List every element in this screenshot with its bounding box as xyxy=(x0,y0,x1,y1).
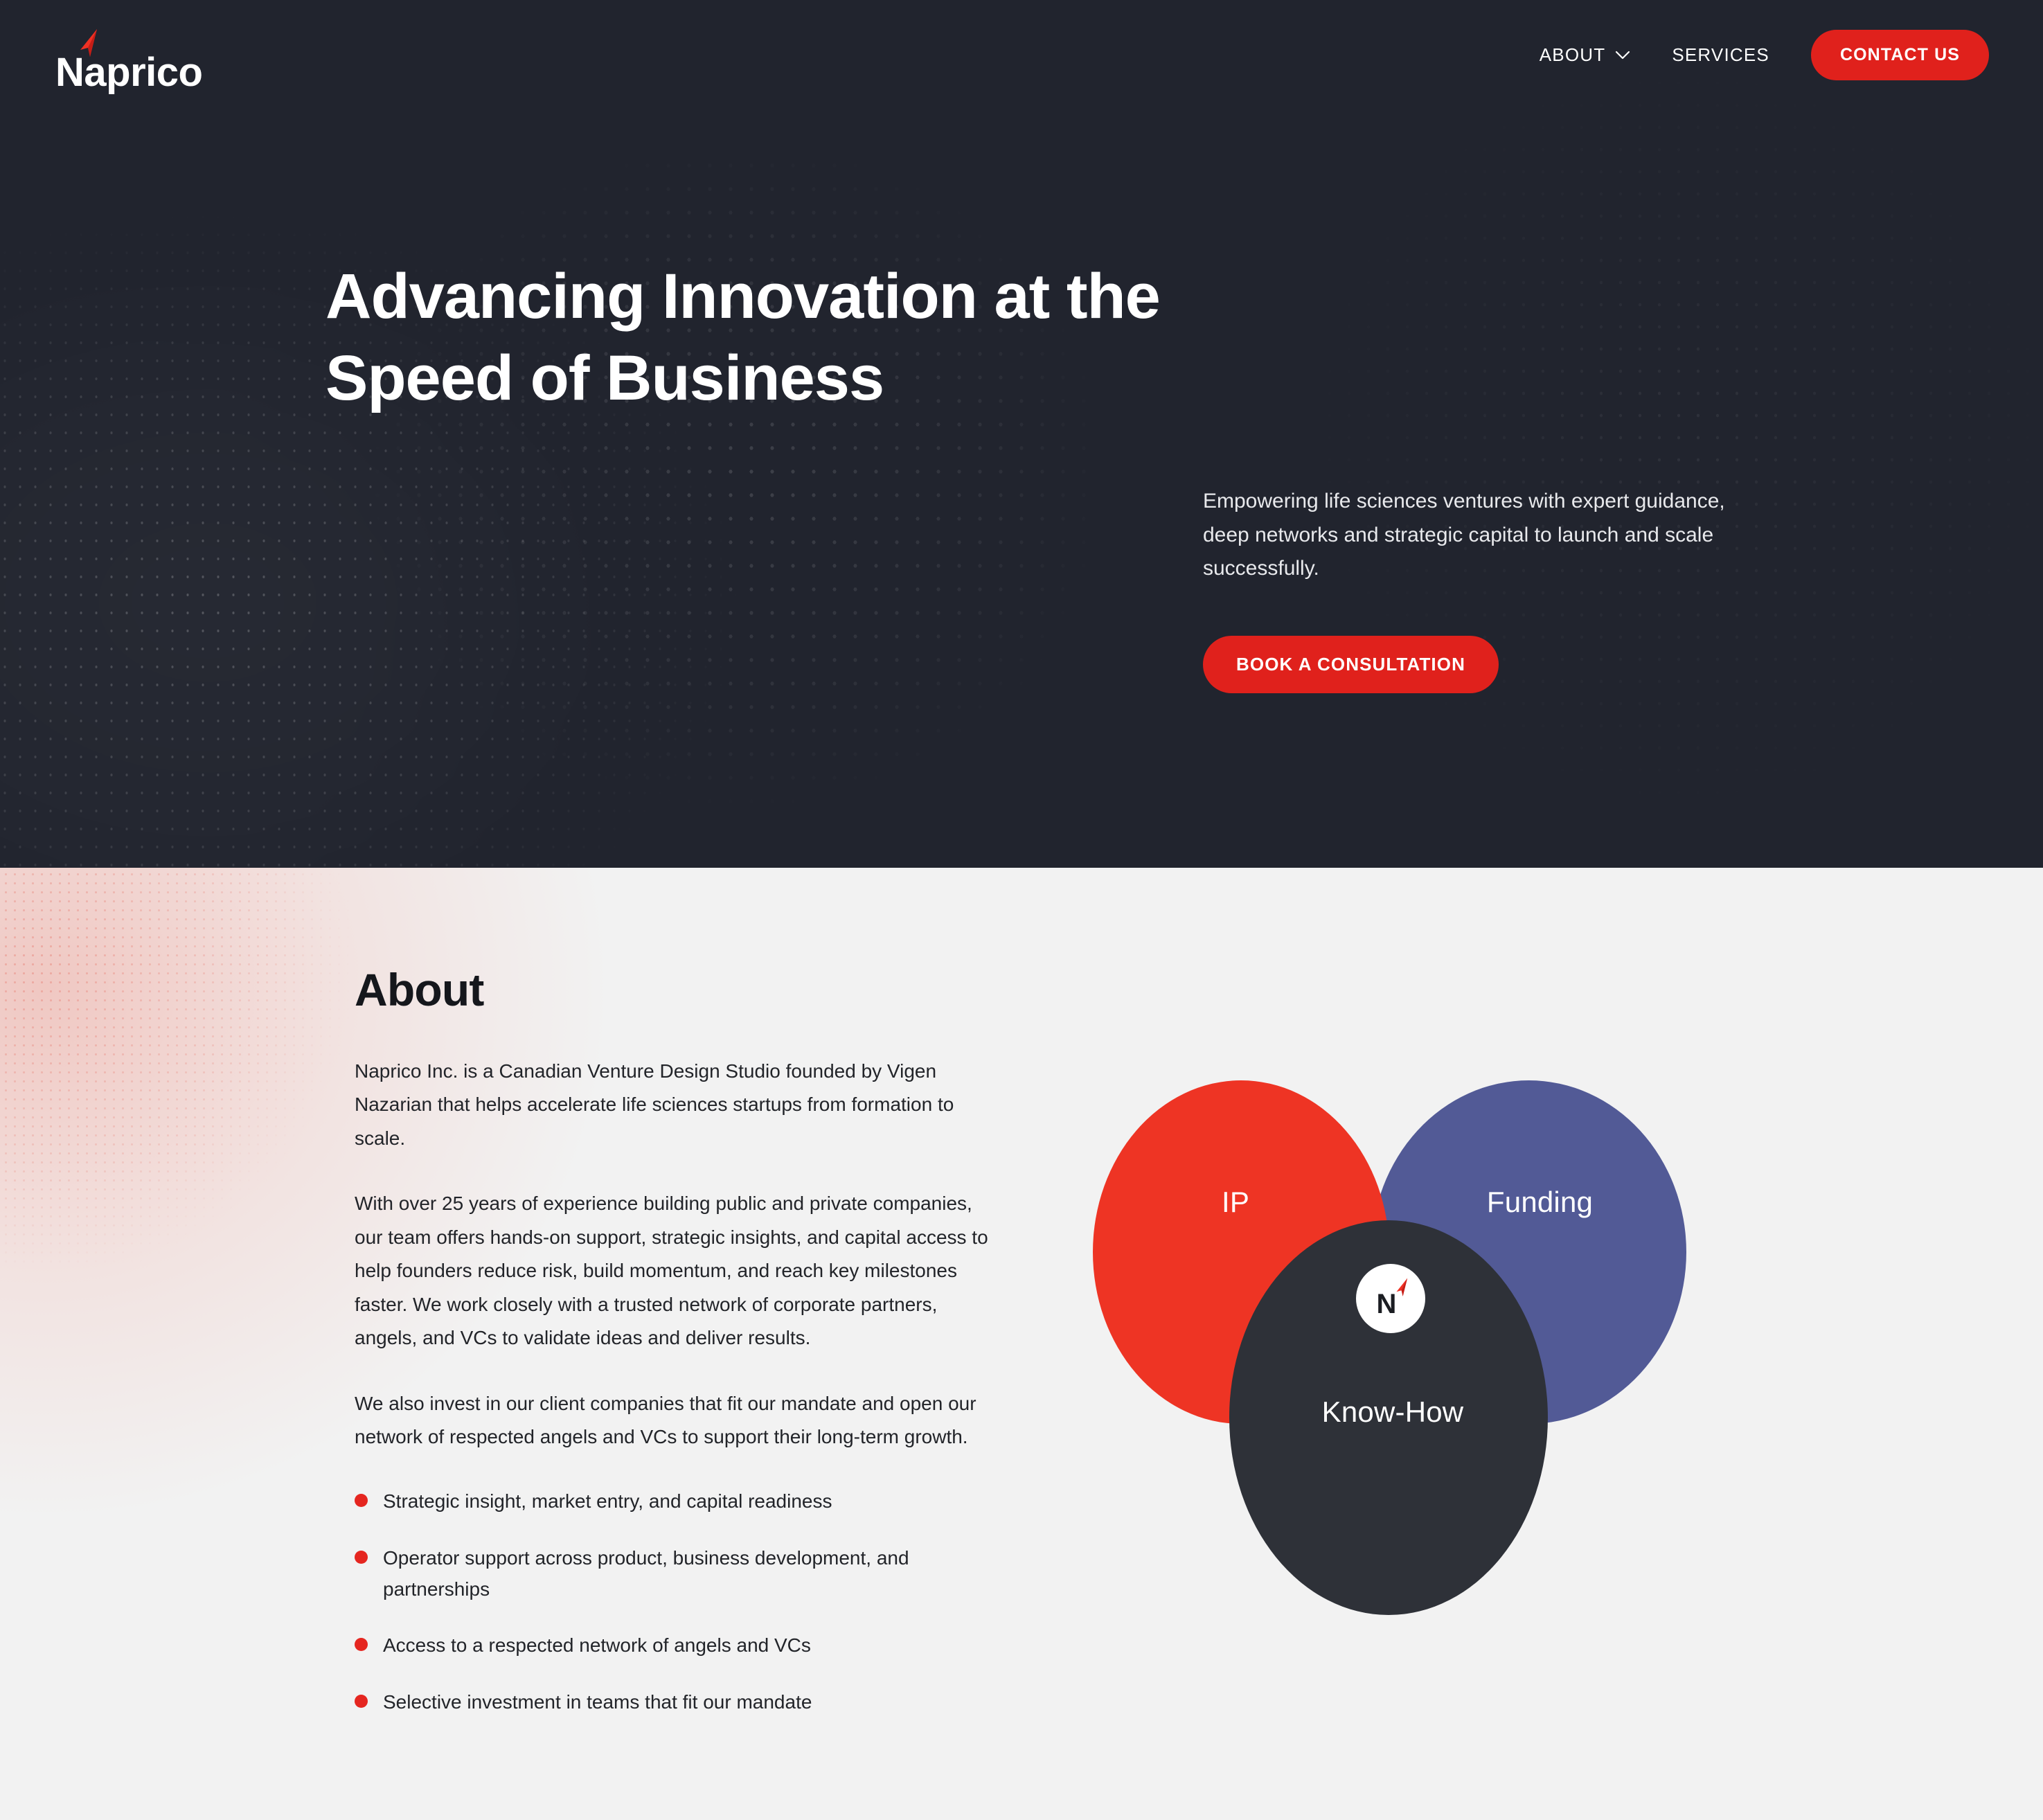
about-paragraph-1: Naprico Inc. is a Canadian Venture Desig… xyxy=(355,1055,992,1155)
compass-arrow-icon xyxy=(1389,1276,1413,1300)
list-item: Operator support across product, busines… xyxy=(355,1542,992,1605)
hero-dot-pattern-secondary xyxy=(159,83,1094,868)
book-consultation-button[interactable]: BOOK A CONSULTATION xyxy=(1203,636,1499,693)
venn-label-funding: Funding xyxy=(1487,1186,1593,1219)
bullet-label: Operator support across product, busines… xyxy=(383,1542,951,1605)
brand-logo[interactable]: Naprico xyxy=(54,17,202,93)
venn-center-badge: N xyxy=(1356,1264,1425,1333)
contact-us-button[interactable]: CONTACT US xyxy=(1811,30,1989,80)
about-paragraph-2: With over 25 years of experience buildin… xyxy=(355,1187,992,1355)
hero-dot-pattern-tertiary xyxy=(1184,0,2043,868)
bullet-dot-icon xyxy=(355,1551,368,1564)
about-heading: About xyxy=(355,963,992,1016)
hero-section: Naprico ABOUT SERVICES CONTACT US Advanc… xyxy=(0,0,2043,868)
list-item: Strategic insight, market entry, and cap… xyxy=(355,1486,992,1517)
venn-diagram: Funding IP Know-How N xyxy=(1093,1080,1695,1627)
venn-label-ip: IP xyxy=(1222,1186,1249,1219)
venn-label-know-how: Know-How xyxy=(1322,1395,1464,1429)
chevron-down-icon xyxy=(1615,51,1630,60)
compass-arrow-icon xyxy=(69,26,105,62)
about-paragraph-3: We also invest in our client companies t… xyxy=(355,1387,992,1454)
blush-dot-pattern xyxy=(0,868,374,1269)
about-text-column: About Naprico Inc. is a Canadian Venture… xyxy=(355,963,992,1742)
bullet-dot-icon xyxy=(355,1638,368,1651)
about-section: About Naprico Inc. is a Canadian Venture… xyxy=(0,868,2043,1820)
hero-dot-pattern xyxy=(0,118,983,868)
top-navigation-bar: Naprico ABOUT SERVICES CONTACT US xyxy=(0,0,2043,109)
hero-subtitle: Empowering life sciences ventures with e… xyxy=(1203,485,1750,586)
main-nav: ABOUT SERVICES CONTACT US xyxy=(1540,30,1989,80)
nav-item-about-label: ABOUT xyxy=(1540,44,1606,66)
hero-content-right: Empowering life sciences ventures with e… xyxy=(1203,485,1750,693)
nav-item-services-label: SERVICES xyxy=(1672,44,1769,66)
bullet-dot-icon xyxy=(355,1494,368,1507)
about-bullet-list: Strategic insight, market entry, and cap… xyxy=(355,1486,992,1718)
bullet-dot-icon xyxy=(355,1695,368,1708)
bullet-label: Access to a respected network of angels … xyxy=(383,1630,811,1661)
list-item: Access to a respected network of angels … xyxy=(355,1630,992,1661)
nav-item-about[interactable]: ABOUT xyxy=(1540,44,1631,66)
bullet-label: Strategic insight, market entry, and cap… xyxy=(383,1486,832,1517)
nav-item-services[interactable]: SERVICES xyxy=(1672,44,1769,66)
list-item: Selective investment in teams that fit o… xyxy=(355,1686,992,1718)
hero-title: Advancing Innovation at the Speed of Bus… xyxy=(325,256,1330,420)
bullet-label: Selective investment in teams that fit o… xyxy=(383,1686,812,1718)
